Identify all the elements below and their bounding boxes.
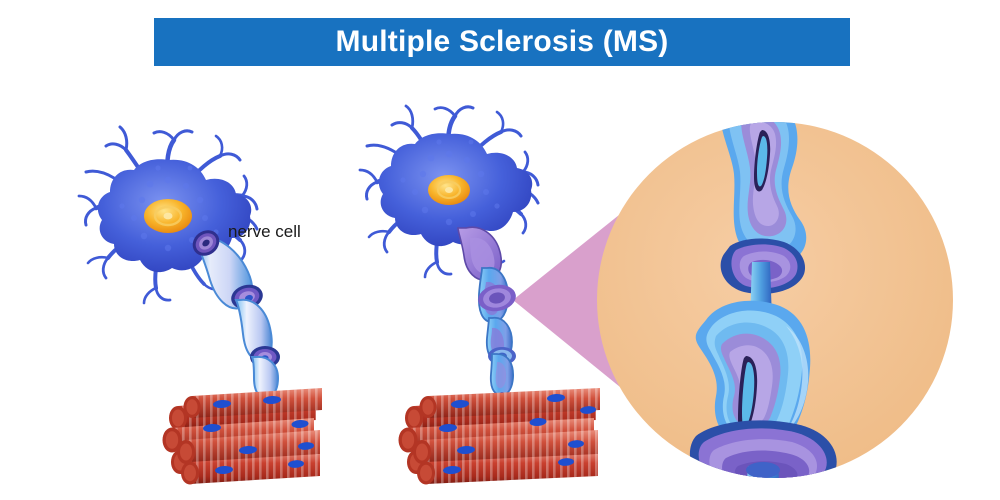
nucleus-left [144,199,192,233]
magnified-lesion [597,94,953,500]
muscle-fiber-bundle-left [163,388,323,485]
muscle-fiber-bundle-right [399,388,601,485]
damaged-myelin-axon [458,227,518,395]
axon-myelin-left [188,225,280,398]
ms-diagram [0,0,1000,500]
nucleus-right [428,175,470,205]
illustration-canvas: Multiple Sclerosis (MS) [0,0,1000,500]
nerve-cell-label: nerve cell [228,222,301,242]
